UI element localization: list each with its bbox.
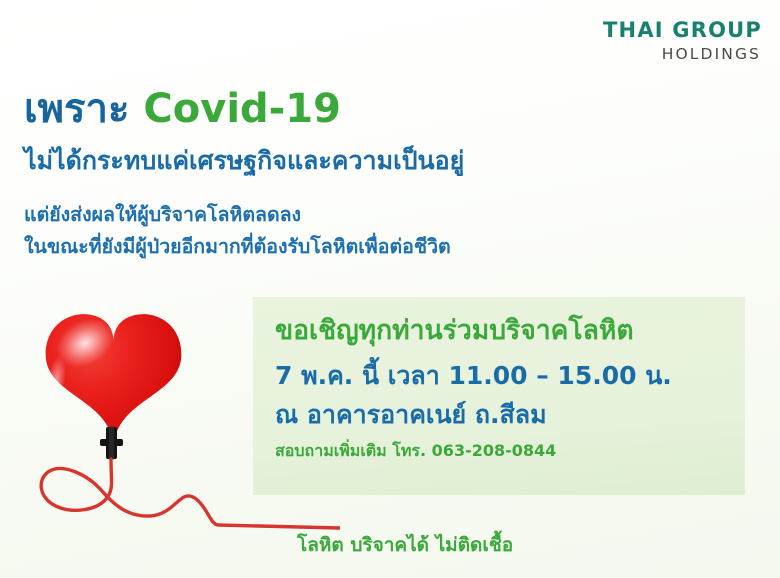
event-venue: ณ อาคารอาคเนย์ ถ.สีลม	[275, 400, 745, 430]
event-datetime: 7 พ.ค. นี้ เวลา 11.00 – 15.00 น.	[275, 361, 745, 391]
body-copy: แต่ยังส่งผลให้ผู้บริจาคโลหิตลดลง ในขณะที…	[24, 199, 451, 262]
balloon-valve-icon	[100, 426, 123, 460]
body-line-1: แต่ยังส่งผลให้ผู้บริจาคโลหิตลดลง	[24, 199, 451, 231]
poster-canvas: THAI GROUP HOLDINGS เพราะ Covid-19 ไม่ได…	[0, 0, 780, 578]
event-invitation-title: ขอเชิญทุกท่านร่วมบริจาคโลหิต	[275, 315, 745, 347]
logo-secondary-text: HOLDINGS	[603, 47, 761, 63]
event-contact-phone: สอบถามเพิ่มเติม โทร. 063-208-0844	[275, 441, 745, 460]
brand-logo: THAI GROUP HOLDINGS	[603, 20, 762, 63]
logo-primary-text: THAI GROUP	[603, 20, 762, 41]
blood-tube-icon	[41, 459, 340, 528]
footer-slogan: โลหิต บริจาคได้ ไม่ติดเชื้อ	[297, 530, 513, 560]
page-title: เพราะ Covid-19	[24, 86, 341, 133]
heart-balloon-illustration	[10, 285, 340, 578]
body-line-2: ในขณะที่ยังมีผู้ป่วยอีกมากที่ต้องรับโลหิ…	[24, 231, 451, 263]
headline-thai-prefix: เพราะ	[24, 86, 143, 132]
headline-covid-term: Covid-19	[143, 86, 341, 132]
subtitle: ไม่ได้กระทบแค่เศรษฐกิจและความเป็นอยู่	[24, 146, 464, 176]
